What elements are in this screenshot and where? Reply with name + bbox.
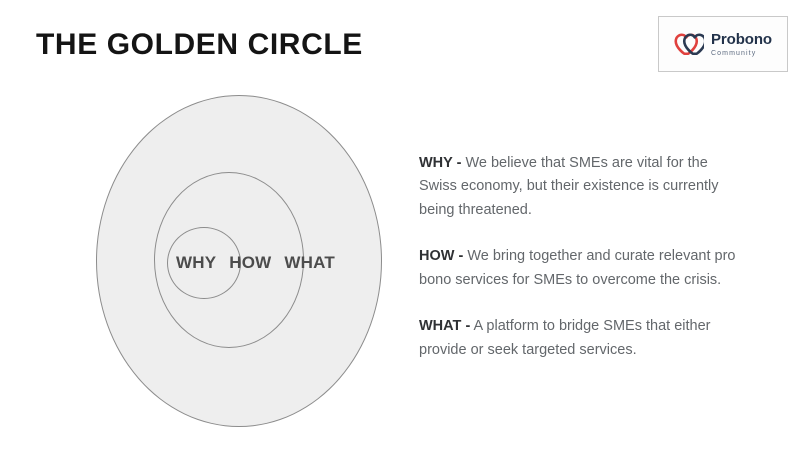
paragraph-why-lead: WHY - — [419, 155, 461, 171]
page-title: THE GOLDEN CIRCLE — [36, 28, 363, 61]
paragraph-how: HOW - We bring together and curate relev… — [419, 245, 749, 292]
golden-circle-diagram: WHY HOW WHAT — [96, 95, 382, 427]
paragraph-why: WHY - We believe that SMEs are vital for… — [419, 152, 749, 222]
paragraph-how-body: We bring together and curate relevant pr… — [419, 248, 735, 287]
paragraph-how-lead: HOW - — [419, 248, 463, 264]
logo-name: Probono — [711, 32, 772, 47]
probono-logo: Probono Community — [658, 16, 788, 72]
paragraph-what-lead: WHAT - — [419, 318, 470, 334]
paragraph-why-body: We believe that SMEs are vital for the S… — [419, 155, 719, 218]
ring-label-why: WHY — [176, 253, 216, 273]
explanation-text-block: WHY - We believe that SMEs are vital for… — [419, 152, 749, 362]
ring-label-how: HOW — [229, 253, 271, 273]
logo-wordmark: Probono Community — [711, 32, 772, 57]
paragraph-what: WHAT - A platform to bridge SMEs that ei… — [419, 315, 749, 362]
ring-label-row: WHY HOW WHAT — [96, 247, 382, 279]
ring-label-what: WHAT — [284, 253, 335, 273]
logo-tagline: Community — [711, 50, 756, 57]
interlocking-hearts-icon — [674, 31, 704, 57]
slide-canvas: THE GOLDEN CIRCLE Probono Community WHY … — [0, 0, 806, 453]
